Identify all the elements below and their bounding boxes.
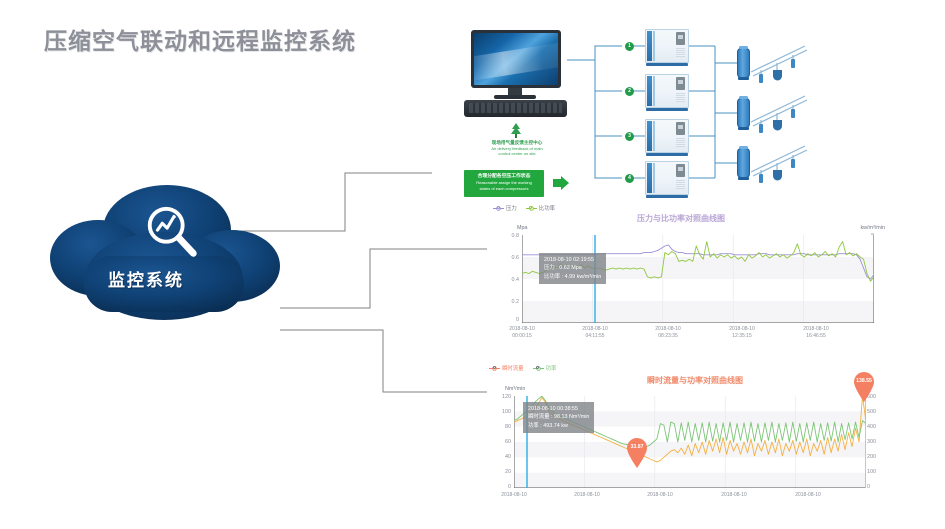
legend-marker-pressure [493, 206, 504, 211]
node-dot-2: 2 [625, 87, 634, 96]
instant-flow-vs-power-chart[interactable]: 瞬时流量 功率 瞬时流量与功率对照曲线图 Nm³/min 120 100 80 … [487, 362, 897, 522]
min-value-marker-label: 33.87 [626, 444, 648, 450]
chart1-y2-axis-unit: kw/m³/min [860, 225, 885, 231]
legend-marker-flow [489, 366, 500, 371]
air-compressor-4 [645, 158, 689, 198]
node-dot-3: 3 [625, 132, 634, 141]
chart1-legend-item-specific-power[interactable]: 比功率 [526, 204, 555, 212]
chart2-ytick-6: 0 [489, 484, 511, 490]
chart2-legend-item-flow[interactable]: 瞬时流量 [489, 364, 524, 372]
node-dot-4: 4 [625, 174, 634, 183]
chart2-y2tick-4: 200 [867, 454, 889, 460]
chart1-ytick-1: 0.6 [501, 255, 519, 261]
chart1-ytick-2: 0.4 [501, 277, 519, 283]
chart2-ytick-0: 120 [489, 394, 511, 400]
chart2-legend-item-power[interactable]: 功率 [533, 364, 557, 372]
chart1-ytick-4: 0 [501, 317, 519, 323]
monitoring-cloud[interactable]: 监控系统 [36, 178, 292, 324]
chart1-legend-item-pressure[interactable]: 压力 [493, 204, 517, 212]
chart1-tooltip-line1: 压力 : 0.63 Mpa [544, 264, 601, 272]
chart2-xtick-1: 2018-08-10 [560, 492, 614, 499]
legend-label-specific-power: 比功率 [539, 204, 555, 212]
chart2-legend[interactable]: 瞬时流量 功率 [489, 364, 556, 372]
chart1-y-axis-unit: Mpa [517, 225, 528, 231]
chart2-y2tick-2: 400 [867, 424, 889, 430]
legend-marker-specific-power [526, 206, 537, 211]
air-compressor-2 [645, 71, 689, 111]
chart2-y2tick-3: 300 [867, 439, 889, 445]
chart1-ytick-0: 0.8 [501, 233, 519, 239]
chart2-xtick-3: 2018-08-10 [707, 492, 761, 499]
chart2-xtick-4: 2018-08-10 [781, 492, 835, 499]
chart2-ytick-5: 20 [489, 469, 511, 475]
air-compressor-1 [645, 26, 689, 66]
max-value-marker[interactable]: 138.55 [853, 372, 875, 402]
cloud-label: 监控系统 [36, 266, 256, 291]
slide-canvas: 压缩空气联动和远程监控系统 [0, 0, 945, 529]
chart2-ytick-4: 40 [489, 454, 511, 460]
pipeline-network [747, 32, 827, 197]
chart2-title: 瞬时流量与功率对照曲线图 [647, 375, 743, 386]
legend-label-pressure: 压力 [506, 204, 517, 212]
chart2-xtick-0: 2018-08-10 [487, 492, 541, 499]
chart2-tooltip-line2: 功率 : 493.74 kw [528, 422, 589, 430]
chart2-ytick-1: 100 [489, 409, 511, 415]
node-dot-1: 1 [625, 42, 634, 51]
system-diagram: 现场用气量反馈主控中心 Air delivery feedback of mai… [437, 18, 937, 203]
chart2-y2tick-6: 0 [867, 484, 889, 490]
chart2-ytick-2: 80 [489, 424, 511, 430]
min-value-marker[interactable]: 33.87 [626, 438, 648, 468]
chart1-ytick-3: 0.2 [501, 299, 519, 305]
chart1-tooltip-line2: 比功率 : 4.99 kw/m³/min [544, 273, 601, 281]
chart1-xtick-4: 2018-08-1016:46:55 [789, 326, 843, 340]
chart1-xtick-0: 2018-08-1000:00:15 [495, 326, 549, 340]
chart1-xtick-2: 2018-08-1008:23:35 [641, 326, 695, 340]
chart2-y-axis-unit: Nm³/min [505, 386, 525, 392]
chart2-xtick-2: 2018-08-10 [633, 492, 687, 499]
chart2-ytick-3: 60 [489, 439, 511, 445]
chart2-y2tick-5: 100 [867, 469, 889, 475]
chart1-title: 压力与比功率对照曲线图 [637, 213, 725, 224]
legend-marker-power [533, 366, 544, 371]
chart2-tooltip: 2018-08-10 00:38:55 瞬时流量 : 98.13 Nm³/min… [523, 402, 594, 433]
chart1-xtick-3: 2018-08-1012:35:15 [715, 326, 769, 340]
chart2-tooltip-line1: 瞬时流量 : 98.13 Nm³/min [528, 413, 589, 421]
chart1-tooltip: 2018-08-10 02:19:55 压力 : 0.63 Mpa 比功率 : … [539, 253, 606, 284]
chart2-y2tick-1: 500 [867, 409, 889, 415]
legend-label-power: 功率 [546, 364, 557, 372]
pressure-vs-specific-power-chart[interactable]: 压力 比功率 压力与比功率对照曲线图 Mpa kw/m³/min 0.8 0.6… [487, 200, 887, 334]
chart2-tooltip-time: 2018-08-10 00:38:55 [528, 405, 589, 413]
chart1-legend[interactable]: 压力 比功率 [493, 204, 555, 212]
magnifier-chart-icon [141, 202, 203, 264]
chart1-tooltip-time: 2018-08-10 02:19:55 [544, 256, 601, 264]
chart1-xtick-1: 2018-08-1004:11:55 [568, 326, 622, 340]
max-value-marker-label: 138.55 [853, 378, 875, 384]
page-title: 压缩空气联动和远程监控系统 [44, 22, 356, 56]
air-compressor-3 [645, 116, 689, 156]
legend-label-flow: 瞬时流量 [502, 364, 524, 372]
